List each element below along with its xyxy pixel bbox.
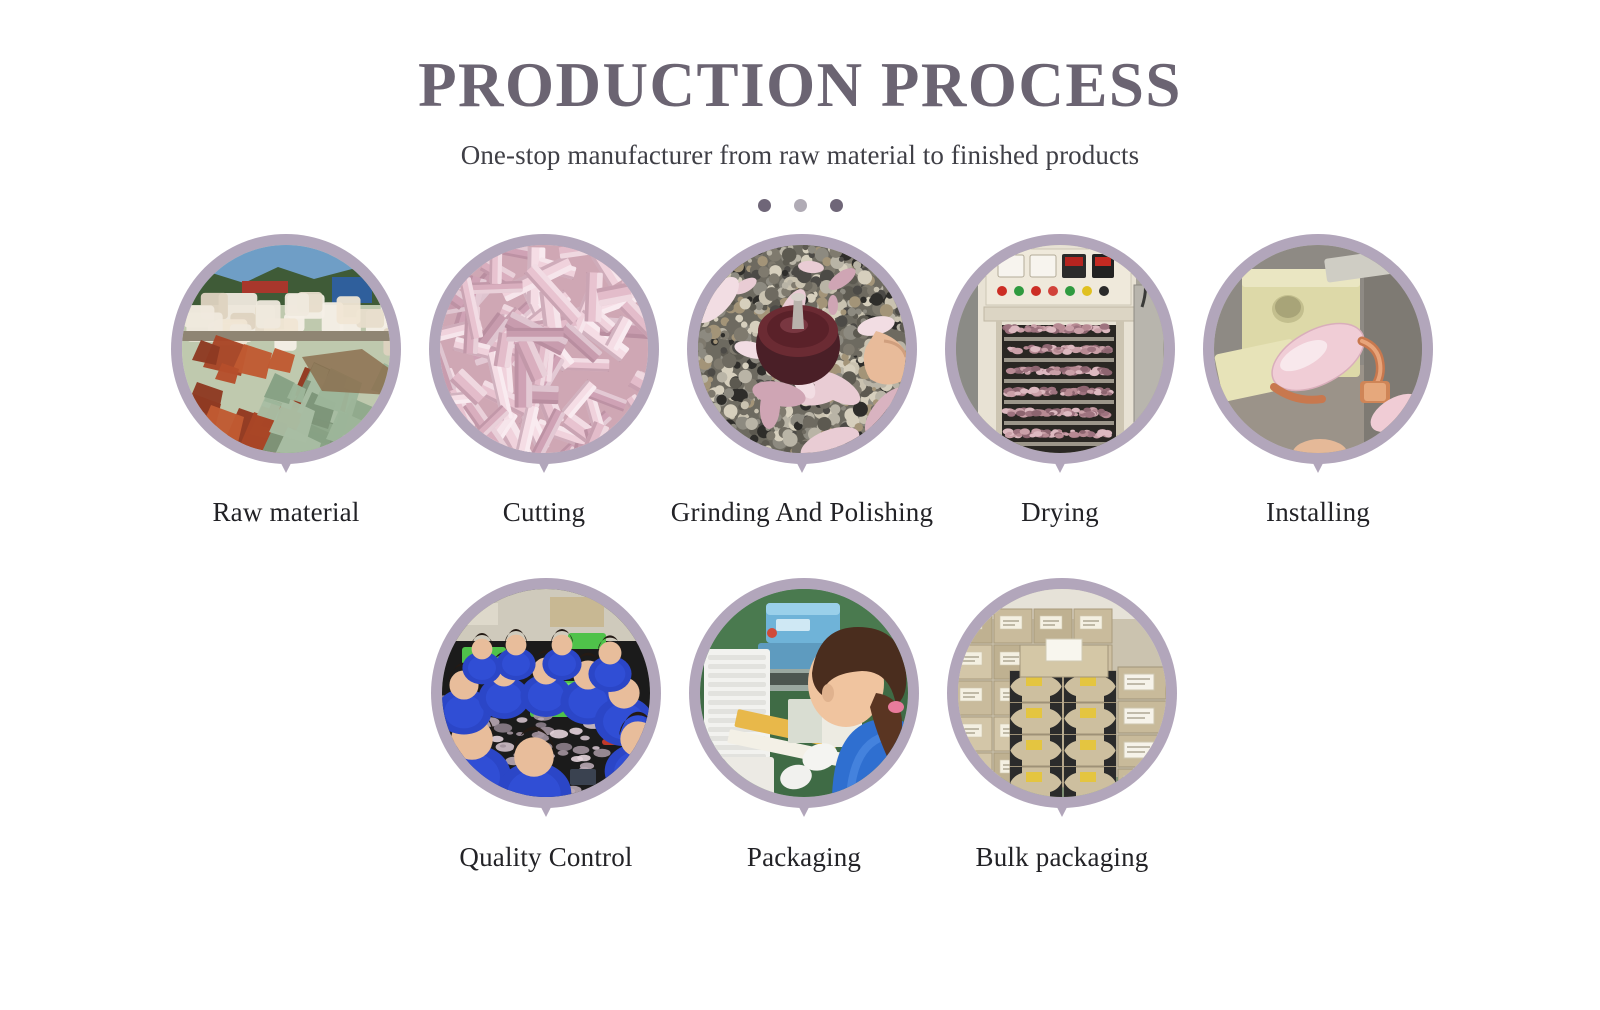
process-step-quality-control[interactable]: Quality Control xyxy=(431,578,661,873)
step-photo-industrial-drying-oven-trays xyxy=(956,245,1164,453)
process-step-bulk-packaging[interactable]: Bulk packaging xyxy=(947,578,1177,873)
step-label: Bulk packaging xyxy=(975,842,1148,873)
step-label: Grinding And Polishing xyxy=(671,497,933,528)
process-step-packaging[interactable]: Packaging xyxy=(689,578,919,873)
step-photo-worker-sealing-machine xyxy=(700,589,908,797)
step-label: Installing xyxy=(1266,497,1370,528)
process-steps-container: Raw materialCuttingGrinding And Polishin… xyxy=(0,234,1600,873)
step-label: Drying xyxy=(1021,497,1099,528)
step-pin xyxy=(945,234,1175,464)
process-row-bottom: Quality ControlPackagingBulk packaging xyxy=(0,578,1600,873)
process-step-cutting[interactable]: Cutting xyxy=(429,234,659,528)
page-title: PRODUCTION PROCESS xyxy=(0,52,1600,118)
step-photo-grinding-wheel-abrasive-tumbler xyxy=(698,245,906,453)
step-photo-stacked-cartons-warehouse xyxy=(958,589,1166,797)
step-pin xyxy=(431,578,661,808)
step-pin xyxy=(1203,234,1433,464)
step-label: Packaging xyxy=(747,842,861,873)
dot-2-icon xyxy=(794,199,807,212)
page-header: PRODUCTION PROCESS One-stop manufacturer… xyxy=(0,0,1600,212)
step-pin xyxy=(429,234,659,464)
process-step-raw-material[interactable]: Raw material xyxy=(171,234,401,528)
step-photo-workers-inspecting-products xyxy=(442,589,650,797)
step-pin xyxy=(689,578,919,808)
decorative-dots xyxy=(0,199,1600,212)
process-step-grinding-and-polishing[interactable]: Grinding And Polishing xyxy=(687,234,917,528)
step-photo-quarry-raw-stone-blocks xyxy=(182,245,390,453)
step-photo-pink-quartz-cut-sticks xyxy=(440,245,648,453)
process-row-top: Raw materialCuttingGrinding And Polishin… xyxy=(0,234,1600,528)
step-pin xyxy=(947,578,1177,808)
step-pin xyxy=(687,234,917,464)
step-label: Raw material xyxy=(212,497,359,528)
process-step-installing[interactable]: Installing xyxy=(1203,234,1433,528)
step-photo-rose-quartz-roller-assembly xyxy=(1214,245,1422,453)
step-label: Cutting xyxy=(503,497,585,528)
page-subtitle: One-stop manufacturer from raw material … xyxy=(0,140,1600,171)
process-step-drying[interactable]: Drying xyxy=(945,234,1175,528)
step-label: Quality Control xyxy=(459,842,632,873)
step-pin xyxy=(171,234,401,464)
dot-1-icon xyxy=(758,199,771,212)
dot-3-icon xyxy=(830,199,843,212)
